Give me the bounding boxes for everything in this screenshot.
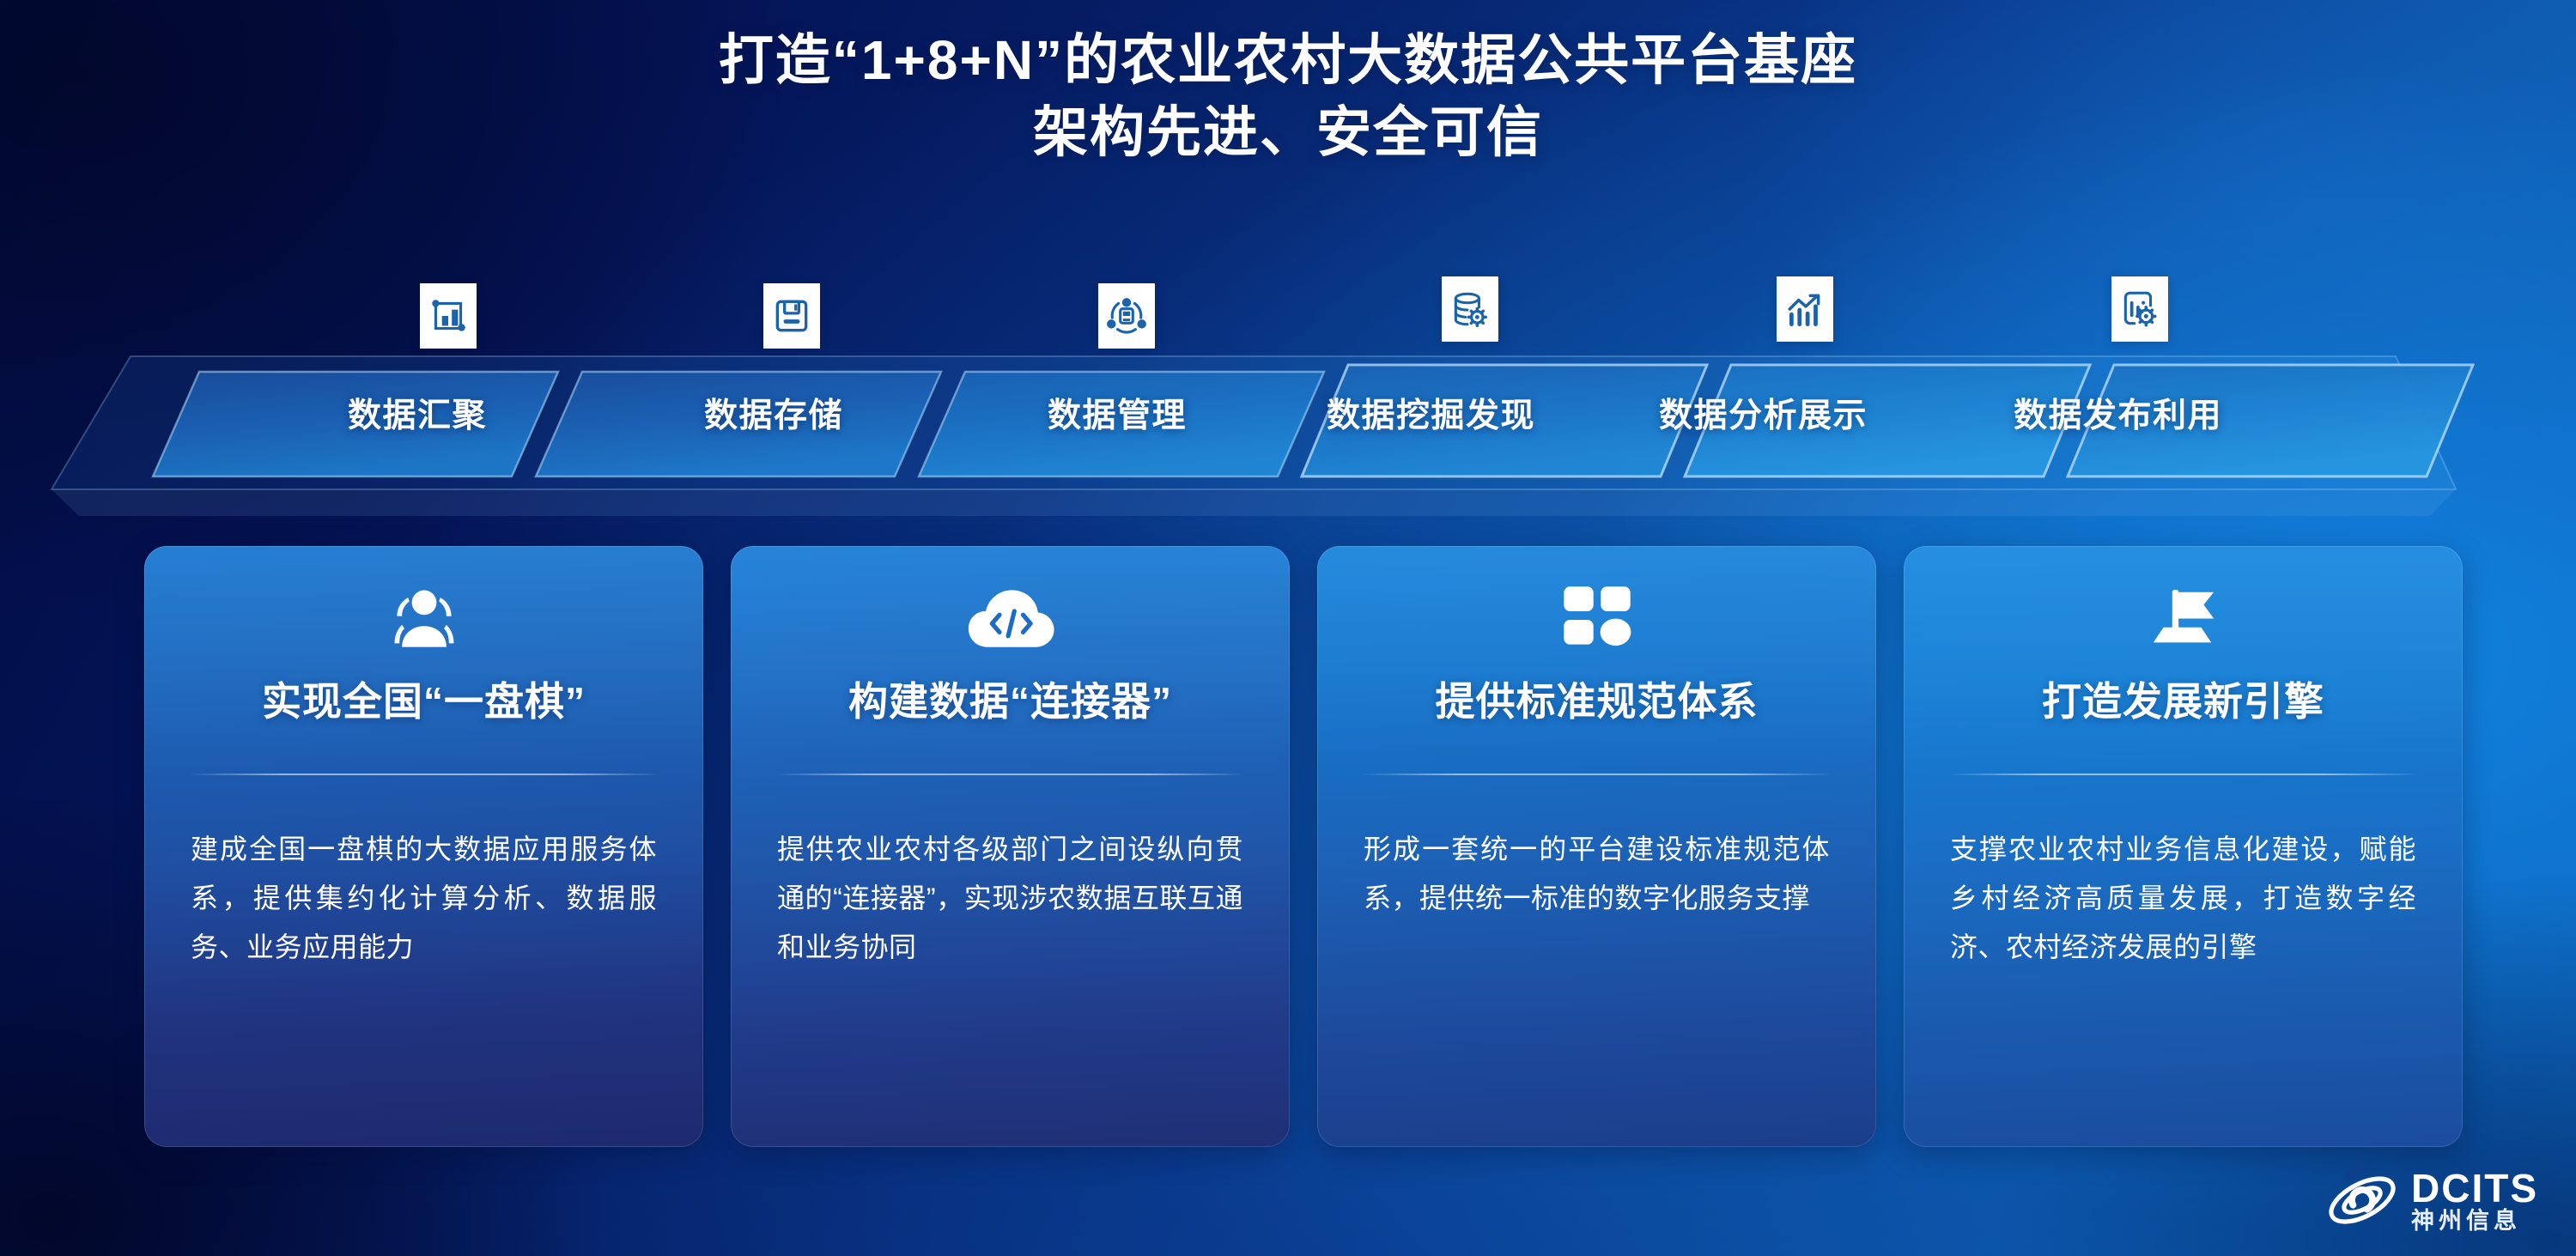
logo-en-text: DCITS bbox=[2411, 1168, 2538, 1208]
pipeline-label-2: 数据存储 bbox=[704, 389, 843, 437]
feature-card-3[interactable]: 提供标准规范体系 形成一套统一的平台建设标准规范体系，提供统一标准的数字化服务支… bbox=[1317, 546, 1876, 1147]
grid-blocks-icon bbox=[1364, 546, 1830, 675]
users-group-icon bbox=[191, 546, 657, 675]
card-divider bbox=[191, 774, 657, 775]
pipeline-label-1: 数据汇聚 bbox=[348, 389, 487, 437]
feature-card-2[interactable]: 构建数据“连接器” 提供农业农村各级部门之间设纵向贯通的“连接器”，实现涉农数据… bbox=[731, 546, 1290, 1147]
floppy-disk-icon bbox=[763, 283, 820, 349]
card-body: 提供农业农村各级部门之间设纵向贯通的“连接器”，实现涉农数据互联互通和业务协同 bbox=[777, 825, 1243, 972]
card-divider bbox=[1950, 774, 2416, 775]
feature-cards: 实现全国“一盘棋” 建成全国一盘棋的大数据应用服务体系，提供集约化计算分析、数据… bbox=[144, 546, 2463, 1147]
pipeline-label-3: 数据管理 bbox=[1048, 389, 1187, 437]
card-title: 构建数据“连接器” bbox=[777, 678, 1243, 725]
cloud-code-icon bbox=[777, 546, 1243, 675]
page-title: 打造“1+8+N”的农业农村大数据公共平台基座 架构先进、安全可信 bbox=[0, 24, 2576, 169]
bar-chart-node-icon bbox=[420, 283, 477, 349]
card-body: 支撑农业农村业务信息化建设，赋能乡村经济高质量发展，打造数字经济、农村经济发展的… bbox=[1950, 825, 2416, 972]
title-line-2: 架构先进、安全可信 bbox=[0, 96, 2576, 168]
pipeline-ribbon: 数据汇聚 数据存储 数据管理 数据挖掘发现 数据分析展示 数据发布利用 bbox=[0, 305, 2576, 541]
card-title: 实现全国“一盘棋” bbox=[191, 678, 657, 725]
feature-card-4[interactable]: 打造发展新引擎 支撑农业农村业务信息化建设，赋能乡村经济高质量发展，打造数字经济… bbox=[1904, 546, 2463, 1147]
network-hub-icon bbox=[1098, 283, 1155, 349]
database-gear-icon bbox=[1442, 276, 1498, 342]
pipeline-label-6: 数据发布利用 bbox=[2014, 389, 2222, 437]
panel-gear-icon bbox=[2111, 276, 2168, 342]
card-body: 形成一套统一的平台建设标准规范体系，提供统一标准的数字化服务支撑 bbox=[1364, 825, 1830, 923]
orbit-swirl-icon bbox=[2325, 1163, 2399, 1237]
feature-card-1[interactable]: 实现全国“一盘棋” 建成全国一盘棋的大数据应用服务体系，提供集约化计算分析、数据… bbox=[144, 546, 703, 1147]
trend-bars-icon bbox=[1777, 276, 1833, 342]
pipeline-label-4: 数据挖掘发现 bbox=[1327, 389, 1535, 437]
card-divider bbox=[1364, 774, 1830, 775]
card-title: 提供标准规范体系 bbox=[1364, 678, 1830, 725]
card-title: 打造发展新引擎 bbox=[1950, 678, 2416, 725]
title-line-1: 打造“1+8+N”的农业农村大数据公共平台基座 bbox=[0, 24, 2576, 96]
flag-icon bbox=[1950, 546, 2416, 675]
card-divider bbox=[777, 774, 1243, 775]
ribbon-base-lip bbox=[52, 489, 2456, 516]
dcits-logo: DCITS 神州信息 bbox=[2325, 1163, 2538, 1237]
pipeline-label-5: 数据分析展示 bbox=[1659, 389, 1868, 437]
card-body: 建成全国一盘棋的大数据应用服务体系，提供集约化计算分析、数据服务、业务应用能力 bbox=[191, 825, 657, 972]
logo-cn-text: 神州信息 bbox=[2411, 1210, 2538, 1233]
